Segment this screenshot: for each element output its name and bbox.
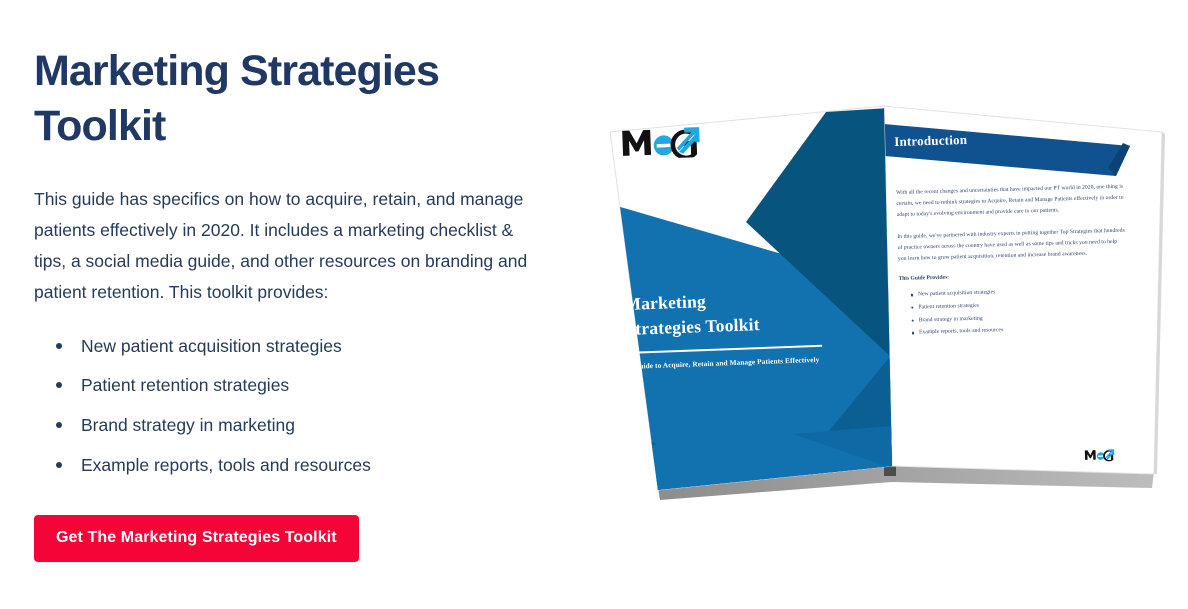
interior-bullet-list: New patient acquisition strategies Patie… [899,285,1128,338]
benefit-list: New patient acquisition strategies Patie… [34,335,554,477]
meg-logo-icon [1084,447,1116,462]
meg-logo-cover [620,123,705,165]
list-item: Example reports, tools and resources [56,454,554,477]
list-item: New patient acquisition strategies [56,335,554,358]
page-title: Marketing Strategies Toolkit [34,44,554,154]
interior-paragraph-2: In this guide, we've partnered with indu… [897,225,1126,264]
hero-copy-column: Marketing Strategies Toolkit This guide … [34,44,554,562]
meg-logo-interior [1084,447,1117,467]
interior-body: With all the recent changes and uncertai… [896,182,1128,342]
get-toolkit-button[interactable]: Get The Marketing Strategies Toolkit [34,515,359,562]
list-item: New patient acquisition strategies [911,285,1127,299]
hero-description: This guide has specifics on how to acqui… [34,184,544,309]
list-item: Patient retention strategies [911,298,1127,312]
interior-heading: Introduction [894,132,967,150]
landing-page-hero: Marketing Strategies Toolkit This guide … [0,0,1188,609]
cover-title-block: Marketing Strategies Toolkit A Guide to … [624,284,837,372]
list-item: Example reports, tools and resources [912,323,1128,337]
brochure-mockup-image: Marketing Strategies Toolkit A Guide to … [596,96,1176,506]
interior-paragraph-1: With all the recent changes and uncertai… [896,182,1125,221]
list-item: Patient retention strategies [56,374,554,397]
list-item: Brand strategy in marketing [56,414,554,437]
cover-divider [626,344,822,353]
list-item: Brand strategy in marketing [912,310,1128,324]
interior-guide-label: This Guide Provides: [898,269,1126,284]
meg-logo-icon [620,123,705,160]
